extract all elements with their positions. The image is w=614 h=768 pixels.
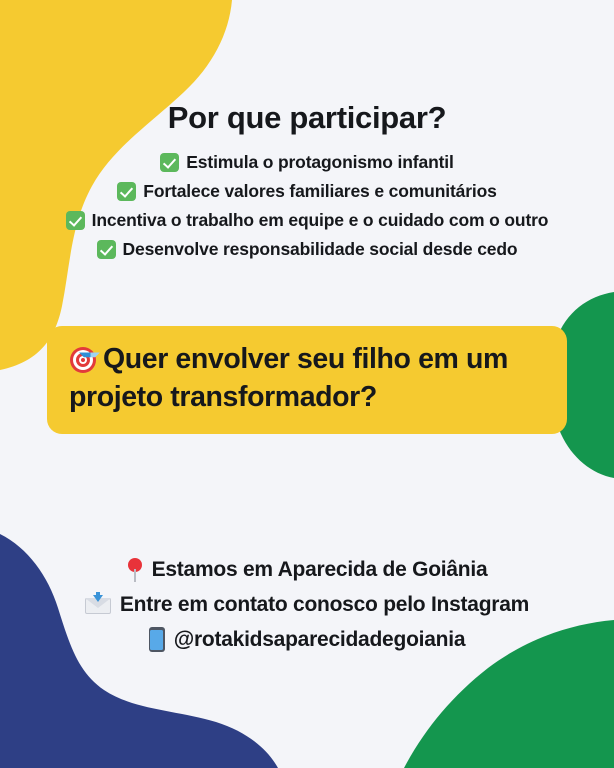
- cta-line-1: Quer envolver seu filho em: [103, 343, 458, 375]
- benefit-label: Estimula o protagonismo infantil: [186, 152, 453, 173]
- benefit-label: Incentiva o trabalho em equipe e o cuida…: [92, 210, 549, 231]
- benefit-label: Fortalece valores familiares e comunitár…: [143, 181, 496, 202]
- mobile-phone-icon: [149, 627, 165, 652]
- benefit-item: Estimula o protagonismo infantil: [0, 148, 614, 177]
- check-icon: [66, 211, 85, 230]
- check-icon: [160, 153, 179, 172]
- contact-message-label: Entre em contato conosco pelo Instagram: [120, 593, 529, 617]
- contact-item-instagram[interactable]: @rotakidsaparecidadegoiania: [0, 622, 614, 657]
- contact-item-location: Estamos em Aparecida de Goiânia: [0, 552, 614, 587]
- benefit-item: Incentiva o trabalho em equipe e o cuida…: [0, 206, 614, 235]
- benefit-label: Desenvolve responsabilidade social desde…: [123, 239, 518, 260]
- page-title: Por que participar?: [0, 100, 614, 136]
- contact-location-label: Estamos em Aparecida de Goiânia: [152, 558, 488, 582]
- instagram-handle[interactable]: @rotakidsaparecidadegoiania: [174, 628, 466, 652]
- benefit-item: Desenvolve responsabilidade social desde…: [0, 235, 614, 264]
- target-dart-icon: [69, 344, 99, 374]
- contact-item-message: Entre em contato conosco pelo Instagram: [0, 587, 614, 622]
- benefits-list: Estimula o protagonismo infantil Fortale…: [0, 148, 614, 264]
- check-icon: [97, 240, 116, 259]
- incoming-envelope-icon: [85, 595, 111, 614]
- location-pin-icon: [127, 558, 143, 582]
- cta-banner[interactable]: Quer envolver seu filho em um projeto tr…: [47, 326, 567, 434]
- poster-canvas: Por que participar? Estimula o protagoni…: [0, 0, 614, 768]
- check-icon: [117, 182, 136, 201]
- contact-block: Estamos em Aparecida de Goiânia Entre em…: [0, 552, 614, 657]
- benefit-item: Fortalece valores familiares e comunitár…: [0, 177, 614, 206]
- poster-content: Por que participar? Estimula o protagoni…: [0, 0, 614, 768]
